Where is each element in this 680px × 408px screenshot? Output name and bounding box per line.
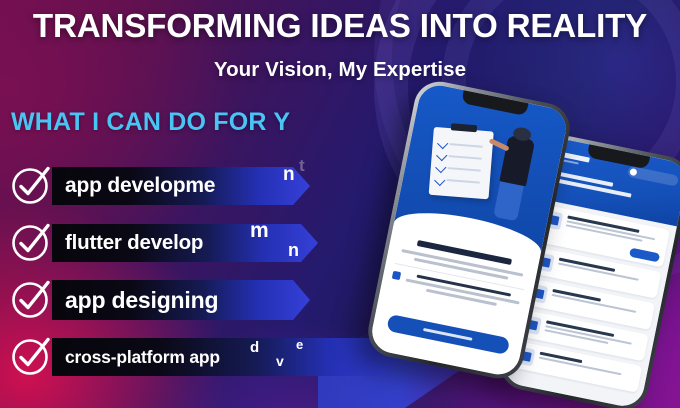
list-item: cross-platform app d v e: [8, 329, 428, 386]
clipboard-illustration: [429, 127, 494, 199]
check-circle-icon: [10, 221, 52, 263]
card-text: [565, 214, 664, 250]
phone-mockups: [378, 86, 680, 408]
card-action-button: [629, 247, 660, 262]
service-label: app developme: [52, 174, 215, 198]
check-circle-icon: [10, 335, 52, 377]
page-subtitle: Your Vision, My Expertise: [0, 58, 680, 82]
service-label: app designing: [52, 287, 218, 314]
start-button[interactable]: [386, 314, 510, 355]
check-circle-icon: [10, 278, 52, 320]
check-icon: [437, 138, 448, 149]
list-item: app designing: [8, 272, 428, 329]
service-banner: cross-platform app: [52, 338, 399, 376]
service-label: flutter develop: [52, 231, 203, 255]
stray-glyph: t: [299, 156, 305, 176]
hero-illustration: [393, 82, 569, 256]
promo-banner: TRANSFORMING IDEAS INTO REALITY Your Vis…: [0, 0, 680, 408]
service-list: app developme n t flutter develop m n: [8, 158, 428, 386]
service-banner: flutter develop: [52, 224, 318, 262]
list-item: flutter develop m n: [8, 215, 428, 272]
check-icon: [435, 163, 446, 174]
page-title: TRANSFORMING IDEAS INTO REALITY: [3, 10, 676, 44]
check-icon: [436, 150, 447, 161]
avatar: [627, 166, 679, 187]
service-label: cross-platform app: [52, 347, 220, 368]
section-heading: WHAT I CAN DO FOR Y: [11, 108, 290, 137]
info-icon: [392, 271, 401, 280]
check-icon: [434, 175, 445, 186]
service-banner: app developme: [52, 167, 310, 205]
check-circle-icon: [10, 164, 52, 206]
service-banner: app designing: [52, 280, 310, 320]
list-item: app developme n t: [8, 158, 428, 215]
